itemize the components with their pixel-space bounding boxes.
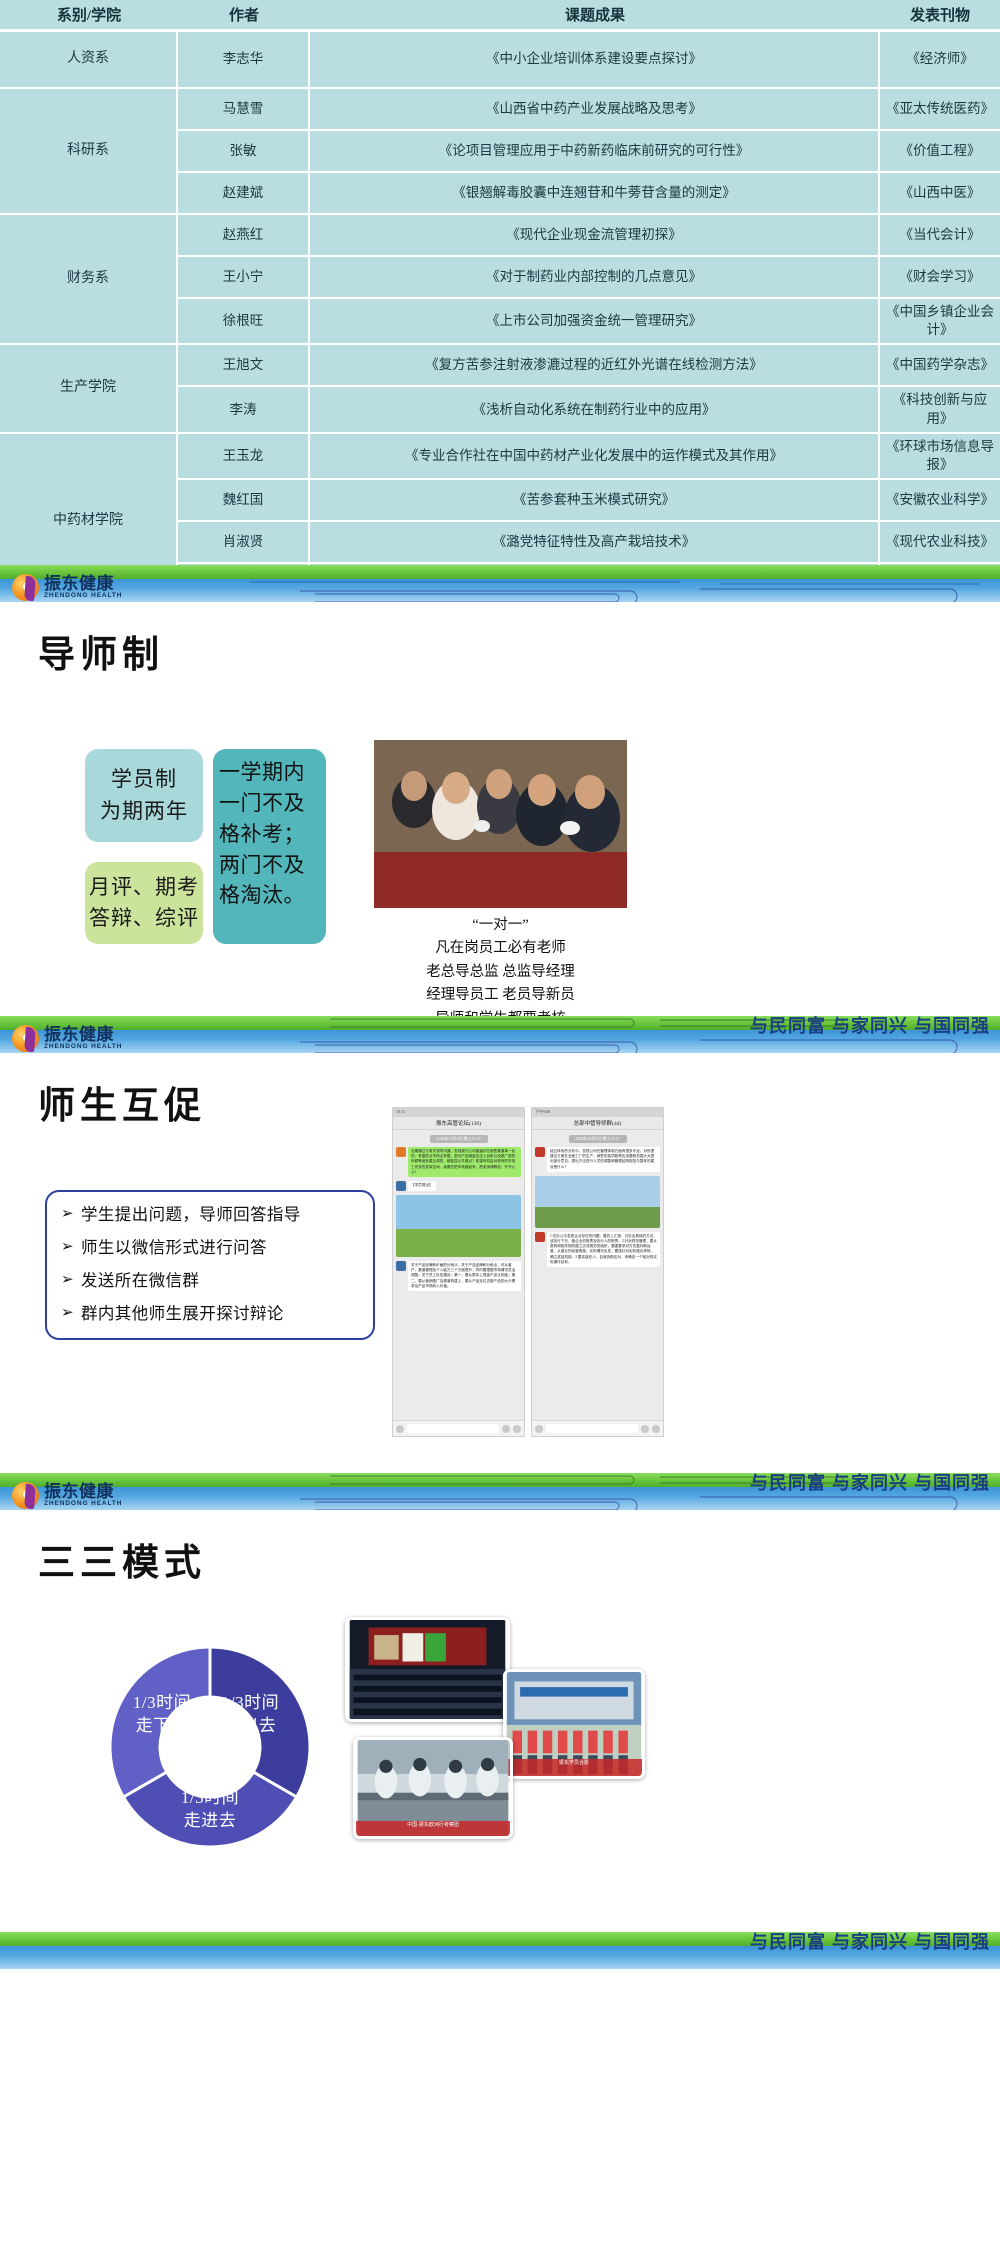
cell-author: 赵建斌	[178, 173, 310, 215]
col-header-journal: 发表刊物	[880, 0, 1000, 32]
chat-text-input[interactable]	[546, 1424, 638, 1433]
caption-line-2: 凡在岗员工必有老师	[374, 937, 627, 959]
interaction-bullet-card: ➢学生提出问题，导师回答指导➢师生以微信形式进行问答➢发送所在微信群➢群内其他师…	[45, 1190, 375, 1340]
chat-image-attachment	[535, 1176, 660, 1228]
brand-logo: 振东健康 ZHENDONG HEALTH	[12, 1024, 162, 1052]
box-assessment-line2: 答辩、综评	[89, 903, 199, 935]
donut-label-go-down-l1: 1/3时间	[133, 1693, 191, 1712]
donut-label-go-out: 1/3时间 走出去	[210, 1692, 290, 1738]
list-item: ➢学生提出问题，导师回答指导	[61, 1206, 363, 1225]
cell-department: 中药材学院	[0, 434, 178, 565]
chat-message: 关于产品品牌和价格的分段计。关于产品品牌和分段点，可从客户、渠道管理及个人能力三…	[396, 1261, 521, 1291]
wechat-screenshot-right: 下午9:08 总部中管导师群(44) 2020年10月8日 晚上11:27 经过…	[531, 1107, 664, 1437]
col-header-author: 作者	[178, 0, 310, 32]
donut-label-go-in-l1: 1/3时间	[181, 1788, 239, 1807]
cell-author: 赵燕红	[178, 215, 310, 257]
mode-photo-collage: 振东学员合影 中国·振东欧洲行考察团	[345, 1617, 645, 1882]
cell-journal: 《中国乡镇企业会计》	[880, 299, 1000, 345]
avatar	[396, 1261, 406, 1271]
list-item-label: 学生提出问题，导师回答指导	[81, 1205, 301, 1224]
cell-author: 李涛	[178, 387, 310, 433]
mentor-photo-caption: “一对一” 凡在岗员工必有老师 老总导总监 总监导经理 经理导员工 老员导新员 …	[374, 914, 627, 1031]
zhendong-logo-icon	[12, 1025, 39, 1052]
cell-title: 《对于制药业内部控制的几点意见》	[310, 257, 880, 299]
table-row: 生产学院王旭文《复方苦参注射液渗漉过程的近红外光谱在线检测方法》《中国药学杂志》	[0, 345, 1000, 387]
cell-journal: 《当代会计》	[880, 215, 1000, 257]
mentor-box-column: 学员制 为期两年 月评、期考 答辩、综评	[85, 749, 203, 944]
donut-label-go-out-l1: 1/3时间	[221, 1693, 279, 1712]
avatar	[535, 1147, 545, 1157]
brand-name-en: ZHENDONG HEALTH	[44, 1044, 122, 1051]
cell-title: 《潞党特征特性及高产栽培技术》	[310, 522, 880, 564]
brand-slogan: 与民同富 与家同兴 与国同强	[750, 1016, 990, 1038]
box-assessment: 月评、期考 答辩、综评	[85, 862, 203, 944]
mentor-photo	[374, 740, 627, 908]
donut-label-go-in-l2: 走进去	[184, 1811, 237, 1830]
brand-banner: 振东健康 ZHENDONG HEALTH	[0, 565, 1000, 602]
photo-caption: 中国·振东欧洲行考察团	[356, 1821, 510, 1836]
cell-journal: 《科技创新与应用》	[880, 387, 1000, 433]
cell-journal: 《环球市场信息导报》	[880, 434, 1000, 480]
donut-label-go-down-l2: 走下去	[136, 1716, 189, 1735]
cell-title: 《现代企业现金流管理初探》	[310, 215, 880, 257]
cell-title: 《复方苦参注射液渗漉过程的近红外光谱在线检测方法》	[310, 345, 880, 387]
caption-line-1: “一对一”	[374, 914, 627, 936]
wechat-screenshots: 10:11 振东高管论坛(130) 2020年10月8日 晚上11:32 近期通…	[392, 1107, 664, 1437]
table-row: 科研系马慧雪《山西省中药产业发展战略及思考》《亚太传统医药》	[0, 89, 1000, 131]
cell-author: 徐根旺	[178, 299, 310, 345]
cell-title: 《专业合作社在中国中药材产业化发展中的运作模式及其作用》	[310, 434, 880, 480]
cell-author: 肖淑贤	[178, 522, 310, 564]
chat-bubble: 关于产品品牌和价格的分段计。关于产品品牌和分段点，可从客户、渠道管理及个人能力三…	[408, 1261, 521, 1291]
cell-department: 人资系	[0, 32, 178, 89]
research-results-table: 系别/学院 作者 课题成果 发表刊物 人资系李志华《中小企业培训体系建设要点探讨…	[0, 0, 1000, 565]
box-exam-policy: 一学期内一门不及格补考； 两门不及格淘汰。	[213, 749, 326, 944]
cell-author: 李志华	[178, 32, 310, 89]
zhendong-logo-icon	[12, 574, 39, 601]
cell-title: 《中小企业培训体系建设要点探讨》	[310, 32, 880, 89]
cell-journal: 《价值工程》	[880, 131, 1000, 173]
chat-input-bar[interactable]	[532, 1420, 663, 1436]
cell-journal: 《现代农业科技》	[880, 522, 1000, 564]
page-title-mentor: 导师制	[38, 624, 1000, 678]
three-part-donut-chart: 1/3时间 走出去 1/3时间 走进去 1/3时间 走下去	[100, 1637, 320, 1857]
cell-journal: 《中国药学杂志》	[880, 345, 1000, 387]
status-bar: 下午9:08	[532, 1108, 663, 1117]
list-item: ➢群内其他师生展开探讨辩论	[61, 1305, 363, 1324]
brand-name-cn: 振东健康	[44, 1483, 122, 1500]
chat-title-left: 振东高管论坛(130)	[393, 1117, 524, 1130]
slide-three-three-model: 三三模式 1/3时间 走出去 1/3时间 走进去 1/3时间 走下去	[0, 1532, 1000, 1932]
cell-department: 科研系	[0, 89, 178, 215]
brand-banner-3: 振东健康 ZHENDONG HEALTH 与民同富 与家同兴 与国同强	[0, 1473, 1000, 1510]
photo-caption: 振东学员合影	[506, 1759, 642, 1776]
cell-title: 《论项目管理应用于中药新药临床前研究的可行性》	[310, 131, 880, 173]
voice-icon[interactable]	[396, 1425, 404, 1433]
cell-journal: 《安徽农业科学》	[880, 480, 1000, 522]
cell-title: 《山西省中药产业发展战略及思考》	[310, 89, 880, 131]
avatar	[396, 1181, 406, 1191]
slide-teacher-student-interaction: 师生互促 ➢学生提出问题，导师回答指导➢师生以微信形式进行问答➢发送所在微信群➢…	[0, 1075, 1000, 1473]
list-item-label: 发送所在微信群	[81, 1271, 199, 1290]
cell-department: 财务系	[0, 215, 178, 345]
cell-author: 王小宁	[178, 257, 310, 299]
cell-title: 《浅析自动化系统在制药行业中的应用》	[310, 387, 880, 433]
brand-logo: 振东健康 ZHENDONG HEALTH	[12, 573, 162, 601]
results-table-slide: 系别/学院 作者 课题成果 发表刊物 人资系李志华《中小企业培训体系建设要点探讨…	[0, 0, 1000, 565]
brand-logo: 振东健康 ZHENDONG HEALTH	[12, 1481, 162, 1509]
chat-date-chip: 2020年10月8日 晚上11:27	[569, 1135, 627, 1143]
emoji-icon[interactable]	[641, 1425, 649, 1433]
page-title-mode: 三三模式	[38, 1532, 1000, 1586]
list-item: ➢师生以微信形式进行问答	[61, 1239, 363, 1258]
caption-line-4: 经理导员工 老员导新员	[374, 984, 627, 1006]
factory-line-photo: 中国·振东欧洲行考察团	[353, 1737, 513, 1839]
caption-line-3: 老总导总监 总监导经理	[374, 961, 627, 983]
cell-author: 马慧雪	[178, 89, 310, 131]
donut-label-go-down: 1/3时间 走下去	[122, 1692, 202, 1738]
chat-bubble: 经过体系的分析中，发现公司在管理体制方面有很多不足，对所提建议方面在全面工厂的生…	[547, 1147, 660, 1172]
table-header-row: 系别/学院 作者 课题成果 发表刊物	[0, 0, 1000, 32]
zhendong-logo-icon	[12, 1482, 39, 1509]
chat-message: 近期通过与有关领导沟通、发现我们公司普遍存在销售渠道单一化的、有整的点市场点有限…	[396, 1147, 521, 1177]
cell-title: 《苦参套种玉米模式研究》	[310, 480, 880, 522]
plus-icon[interactable]	[652, 1425, 660, 1433]
box-student-line1: 学员制	[111, 764, 177, 796]
cell-journal: 《亚太传统医药》	[880, 89, 1000, 131]
cell-title: 《上市公司加强资金统一管理研究》	[310, 299, 880, 345]
brand-slogan: 与民同富 与家同兴 与国同强	[750, 1932, 990, 1954]
donut-label-go-in: 1/3时间 走进去	[170, 1787, 250, 1833]
table-row: 人资系李志华《中小企业培训体系建设要点探讨》《经济师》	[0, 32, 1000, 89]
chat-title-right: 总部中管导师群(44)	[532, 1117, 663, 1130]
cell-journal: 《财会学习》	[880, 257, 1000, 299]
table-row: 财务系赵燕红《现代企业现金流管理初探》《当代会计》	[0, 215, 1000, 257]
chat-bubble-label: 【学员提出】	[408, 1181, 436, 1191]
donut-label-go-out-l2: 走出去	[224, 1716, 277, 1735]
arrow-bullet-icon: ➢	[61, 1272, 74, 1289]
list-item-label: 群内其他师生展开探讨辩论	[81, 1304, 284, 1323]
brand-name-cn: 振东健康	[44, 1026, 122, 1043]
cell-author: 王旭文	[178, 345, 310, 387]
brand-banner-4: 与民同富 与家同兴 与国同强	[0, 1932, 1000, 1969]
brand-name-cn: 振东健康	[44, 575, 122, 592]
chat-message: 【学员提出】	[396, 1181, 521, 1191]
arrow-bullet-icon: ➢	[61, 1305, 74, 1322]
arrow-bullet-icon: ➢	[61, 1239, 74, 1256]
cell-author: 张敏	[178, 131, 310, 173]
group-photo-building: 振东学员合影	[503, 1669, 645, 1779]
brand-banner-2: 振东健康 ZHENDONG HEALTH 与民同富 与家同兴 与国同强	[0, 1016, 1000, 1053]
chat-date-chip: 2020年10月8日 晚上11:32	[430, 1135, 488, 1143]
brand-name-en: ZHENDONG HEALTH	[44, 1501, 122, 1508]
box-student-line2: 为期两年	[100, 796, 188, 828]
chat-image-attachment	[396, 1195, 521, 1257]
list-item-label: 师生以微信形式进行问答	[81, 1238, 267, 1257]
avatar	[535, 1232, 545, 1242]
chat-bubble: 1.在办公中发现企业存在的问题，要向上汇报，讨论出具体的方法，该执行下去，做企业…	[547, 1232, 660, 1267]
plus-icon[interactable]	[513, 1425, 521, 1433]
brand-slogan: 与民同富 与家同兴 与国同强	[750, 1473, 990, 1495]
cell-author: 魏红国	[178, 480, 310, 522]
arrow-bullet-icon: ➢	[61, 1206, 74, 1223]
table-row: 中药材学院王玉龙《专业合作社在中国中药材产业化发展中的运作模式及其作用》《环球市…	[0, 434, 1000, 480]
cell-journal: 《山西中医》	[880, 173, 1000, 215]
slide-mentor-system: 导师制 学员制 为期两年 月评、期考 答辩、综评 一学期内一门不及格补考； 两门…	[0, 624, 1000, 1016]
conference-hall-photo	[345, 1617, 510, 1722]
avatar	[396, 1147, 406, 1157]
box-student-system: 学员制 为期两年	[85, 749, 203, 842]
list-item: ➢发送所在微信群	[61, 1272, 363, 1291]
chat-message: 经过体系的分析中，发现公司在管理体制方面有很多不足，对所提建议方面在全面工厂的生…	[535, 1147, 660, 1172]
cell-department: 生产学院	[0, 345, 178, 433]
brand-name-en: ZHENDONG HEALTH	[44, 593, 122, 600]
emoji-icon[interactable]	[502, 1425, 510, 1433]
cell-title: 《银翘解毒胶囊中连翘苷和牛蒡苷含量的测定》	[310, 173, 880, 215]
wechat-screenshot-left: 10:11 振东高管论坛(130) 2020年10月8日 晚上11:32 近期通…	[392, 1107, 525, 1437]
status-bar: 10:11	[393, 1108, 524, 1117]
box-assessment-line1: 月评、期考	[89, 872, 199, 904]
cell-journal: 《经济师》	[880, 32, 1000, 89]
col-header-title: 课题成果	[310, 0, 880, 32]
chat-input-bar[interactable]	[393, 1420, 524, 1436]
chat-message: 1.在办公中发现企业存在的问题，要向上汇报，讨论出具体的方法，该执行下去，做企业…	[535, 1232, 660, 1267]
col-header-department: 系别/学院	[0, 0, 178, 32]
cell-author: 王玉龙	[178, 434, 310, 480]
chat-bubble: 近期通过与有关领导沟通、发现我们公司普遍存在销售渠道单一化的、有整的点市场点有限…	[408, 1147, 521, 1177]
voice-icon[interactable]	[535, 1425, 543, 1433]
chat-text-input[interactable]	[407, 1424, 499, 1433]
